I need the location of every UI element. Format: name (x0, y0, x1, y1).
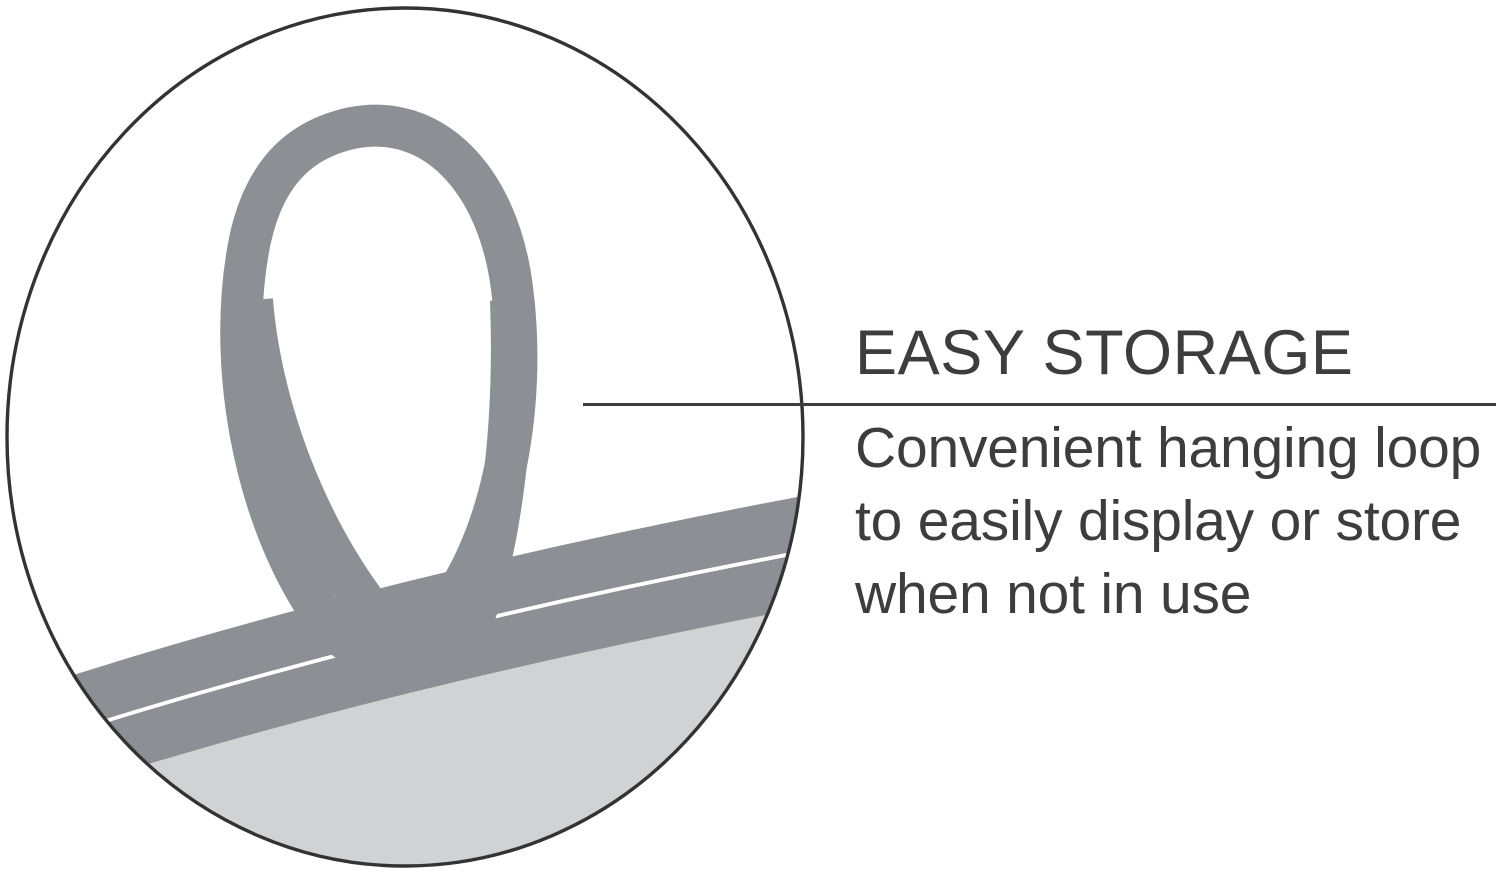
body-line-1: Convenient hanging loop (855, 412, 1500, 485)
callout-body-copy: Convenient hanging loop to easily displa… (855, 412, 1500, 631)
body-line-3: when not in use (855, 558, 1500, 631)
body-line-2: to easily display or store (855, 485, 1500, 558)
callout-text-block: EASY STORAGE Convenient hanging loop to … (855, 318, 1500, 631)
illustration-svg (0, 0, 830, 872)
callout-headline: EASY STORAGE (855, 318, 1500, 388)
hanging-loop-illustration (0, 0, 830, 872)
infographic-root: EASY STORAGE Convenient hanging loop to … (0, 0, 1500, 872)
